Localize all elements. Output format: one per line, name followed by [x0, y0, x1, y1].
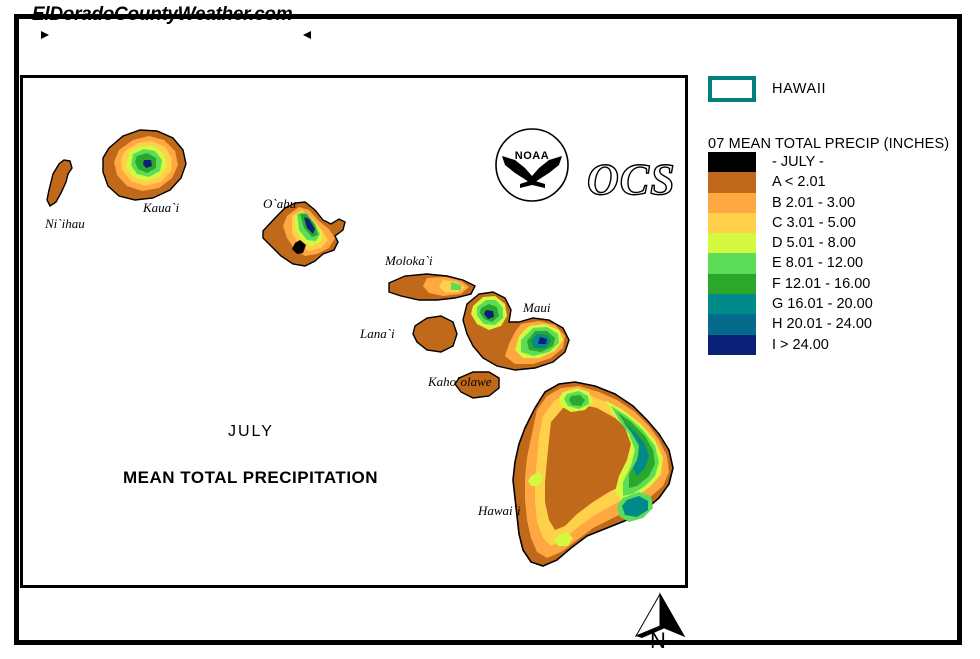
legend-row[interactable]: B 2.01 - 3.00: [708, 193, 958, 213]
legend-row[interactable]: F 12.01 - 16.00: [708, 274, 958, 294]
legend-class-label: I > 24.00: [772, 335, 829, 355]
island-label-lanai: Lana`i: [360, 326, 395, 342]
legend-class-label: A < 2.01: [772, 172, 826, 192]
legend-swatch: [708, 213, 756, 233]
island-hawaii: [513, 382, 673, 566]
legend-swatch: [708, 193, 756, 213]
legend-swatch: [708, 274, 756, 294]
legend-swatch: [708, 152, 756, 172]
island-label-oahu: O`ahu: [263, 196, 296, 212]
legend-class-label: B 2.01 - 3.00: [772, 193, 855, 213]
map-subtitle: MEAN TOTAL PRECIPITATION: [123, 468, 378, 488]
legend-class-label: D 5.01 - 8.00: [772, 233, 856, 253]
legend-row[interactable]: G 16.01 - 20.00: [708, 294, 958, 314]
ocs-logo-icon: OCS: [583, 150, 688, 208]
island-label-hawaii: Hawai`i: [478, 503, 521, 519]
legend-swatch: [708, 172, 756, 192]
island-label-maui: Maui: [523, 300, 550, 316]
legend-class-label: E 8.01 - 12.00: [772, 253, 863, 273]
legend-class-label: F 12.01 - 16.00: [772, 274, 870, 294]
legend-class-label: G 16.01 - 20.00: [772, 294, 873, 314]
island-molokai: [389, 274, 475, 300]
north-arrow-letter: N: [650, 628, 666, 654]
legend-area-label: HAWAII: [772, 81, 826, 97]
legend-class-label: H 20.01 - 24.00: [772, 314, 872, 334]
island-label-niihau: Ni`ihau: [45, 216, 85, 232]
legend-swatch: [708, 314, 756, 334]
legend-row[interactable]: D 5.01 - 8.00: [708, 233, 958, 253]
island-kauai: [103, 130, 186, 200]
legend-class-label: C 3.01 - 5.00: [772, 213, 856, 233]
legend-area-row: HAWAII: [708, 76, 958, 102]
site-title: ElDoradoCountyWeather.com: [32, 4, 292, 26]
ocs-wordmark: OCS: [587, 155, 676, 204]
legend-swatch: [708, 294, 756, 314]
legend-area-swatch: [708, 76, 756, 102]
legend-row[interactable]: H 20.01 - 24.00: [708, 314, 958, 334]
legend-swatch: [708, 233, 756, 253]
legend-row[interactable]: - JULY -: [708, 152, 958, 172]
banner-title-gap: [41, 25, 311, 47]
legend-swatch: [708, 335, 756, 355]
island-label-kauai: Kaua`i: [143, 200, 179, 216]
legend-row[interactable]: I > 24.00: [708, 335, 958, 355]
island-label-kahoolawe: Kaho`olawe: [428, 374, 492, 390]
island-niihau: [47, 160, 72, 206]
banner-stub-left-icon: [41, 31, 49, 39]
legend-row[interactable]: A < 2.01: [708, 172, 958, 192]
noaa-logo-icon: NOAA: [493, 126, 571, 204]
map-canvas[interactable]: Ni`ihau Kaua`i O`ahu Moloka`i Lana`i Mau…: [20, 75, 688, 588]
island-lanai: [413, 316, 457, 352]
legend-title: 07 MEAN TOTAL PRECIP (INCHES): [708, 136, 958, 152]
legend-class-label: - JULY -: [772, 152, 824, 172]
legend-row[interactable]: E 8.01 - 12.00: [708, 253, 958, 273]
map-month-label: JULY: [228, 423, 274, 441]
island-maui: [463, 292, 569, 370]
legend-row[interactable]: C 3.01 - 5.00: [708, 213, 958, 233]
legend-swatch: [708, 253, 756, 273]
legend-class-list: - JULY - A < 2.01 B 2.01 - 3.00 C 3.01 -…: [708, 152, 958, 355]
banner-stub-right-icon: [303, 31, 311, 39]
map-legend: HAWAII 07 MEAN TOTAL PRECIP (INCHES) - J…: [708, 76, 958, 355]
noaa-wordmark: NOAA: [515, 150, 549, 162]
island-label-molokai: Moloka`i: [385, 253, 433, 269]
